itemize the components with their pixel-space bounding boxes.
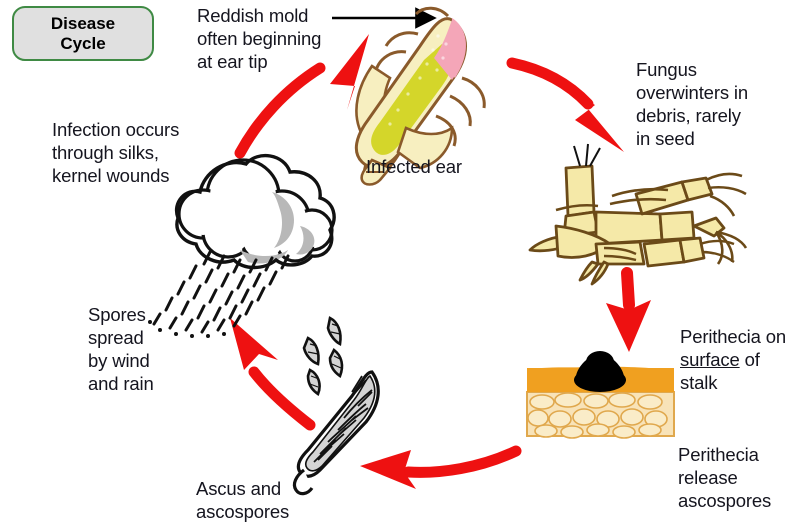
label-spores-spread: Spores spread by wind and rain xyxy=(88,303,154,395)
arrow-ascus-to-spores xyxy=(230,318,310,425)
label-infection-occurs: Infection occurs through silks, kernel w… xyxy=(52,118,179,187)
label-fungus-overwinters: Fungus overwinters in debris, rarely in … xyxy=(636,58,748,150)
label-perithecia-on-surface: Perithecia on surface of stalk xyxy=(680,325,800,394)
disease-cycle-diagram: Disease Cycle Reddish mold often beginni… xyxy=(0,0,800,532)
arrow-ear-to-debris xyxy=(512,63,624,152)
caption-infected-ear: Infected ear xyxy=(366,155,462,178)
perithecia-text-line1: Perithecia on xyxy=(680,326,786,347)
label-ascus-ascospores: Ascus and ascospores xyxy=(196,477,289,523)
debris-illustration xyxy=(530,144,746,284)
disease-cycle-title-box: Disease Cycle xyxy=(12,6,154,61)
arrow-perithecia-to-ascus xyxy=(360,450,516,489)
arrow-debris-to-perithecia xyxy=(606,273,651,352)
label-reddish-mold: Reddish mold often beginning at ear tip xyxy=(197,4,321,73)
label-perithecia-release: Perithecia release ascospores xyxy=(678,443,771,512)
page-title: Disease Cycle xyxy=(51,14,115,54)
perithecia-stalk-illustration xyxy=(527,351,674,438)
perithecia-text-underlined: surface xyxy=(680,349,740,370)
